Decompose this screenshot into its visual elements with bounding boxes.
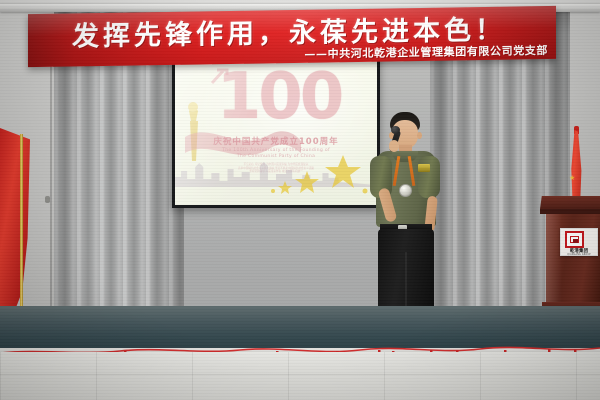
tiled-floor [0, 352, 600, 400]
photo-scene: 100 庆祝中国共产党成立100周年 The 100th Anniversary… [0, 0, 600, 400]
plaque-company-en: QIANGANG GROUP [562, 253, 596, 256]
flag-star-icon: ★ [569, 174, 575, 182]
medal [399, 184, 412, 197]
event-banner: 发挥先锋作用，永葆先进本色！ ——中共河北乾港企业管理集团有限公司党支部 [28, 6, 556, 67]
chest-badge [418, 164, 430, 172]
lectern-top [540, 196, 600, 209]
qiangang-square-logo-icon [565, 231, 584, 248]
projection-screen-frame: 100 庆祝中国共产党成立100周年 The 100th Anniversary… [172, 50, 380, 208]
screen-glare [175, 53, 377, 205]
door-seam [50, 30, 52, 330]
party-flag-left [0, 128, 34, 328]
speaker-sleeve-right [418, 156, 440, 198]
flag-cloth [0, 128, 30, 318]
microphone-icon [391, 126, 400, 134]
speaker-ear-right [417, 132, 422, 139]
flag-pole [20, 134, 23, 330]
speaker-figure [362, 112, 448, 330]
floor-tile-seam [0, 374, 600, 375]
logo-mark [573, 239, 578, 243]
lectern-plaque: 乾港集团 QIANGANG GROUP [560, 228, 598, 256]
projection-screen: 100 庆祝中国共产党成立100周年 The 100th Anniversary… [175, 53, 377, 205]
speaker-hand [389, 140, 399, 152]
door-knob [45, 196, 50, 203]
